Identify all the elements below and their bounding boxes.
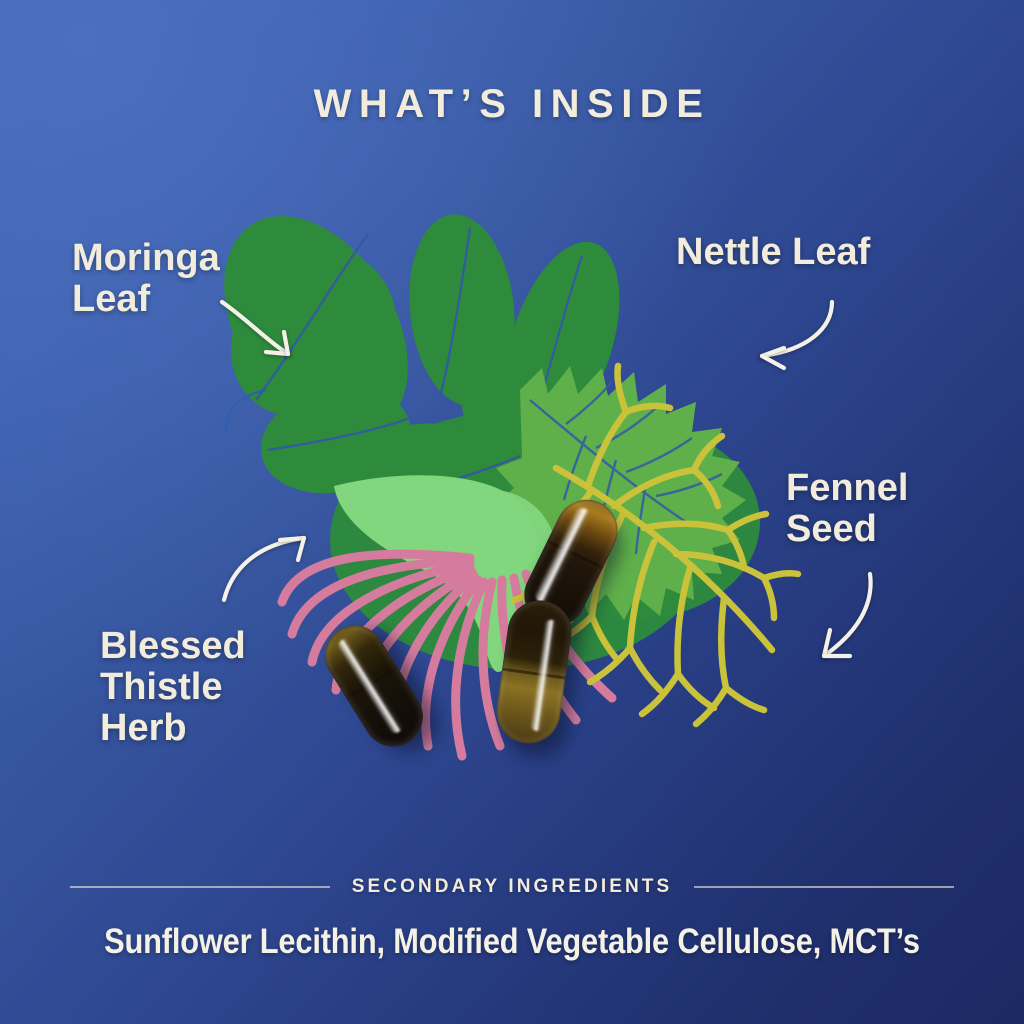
footer: SECONDARY INGREDIENTS Sunflower Lecithin… bbox=[0, 876, 1024, 962]
secondary-ingredients-divider: SECONDARY INGREDIENTS bbox=[0, 876, 1024, 898]
callout-label-thistle: Blessed Thistle Herb bbox=[100, 626, 246, 749]
callout-label-fennel: Fennel Seed bbox=[786, 468, 908, 550]
divider-rule-left bbox=[70, 886, 330, 888]
secondary-ingredients-list: Sunflower Lecithin, Modified Vegetable C… bbox=[61, 922, 962, 962]
divider-rule-right bbox=[694, 886, 954, 888]
arrow-curve-down-right-icon bbox=[218, 296, 328, 376]
arrow-curve-down-left-icon bbox=[736, 298, 846, 378]
arrow-curve-up-right-icon bbox=[218, 528, 328, 608]
callout-label-nettle: Nettle Leaf bbox=[676, 232, 870, 273]
arrow-curve-down-left-icon bbox=[800, 570, 890, 670]
secondary-ingredients-heading: SECONDARY INGREDIENTS bbox=[352, 876, 673, 898]
page-title: WHAT’S INSIDE bbox=[0, 82, 1024, 127]
infographic-canvas: WHAT’S INSIDE bbox=[0, 0, 1024, 1024]
callout-label-moringa: Moringa Leaf bbox=[72, 238, 220, 320]
